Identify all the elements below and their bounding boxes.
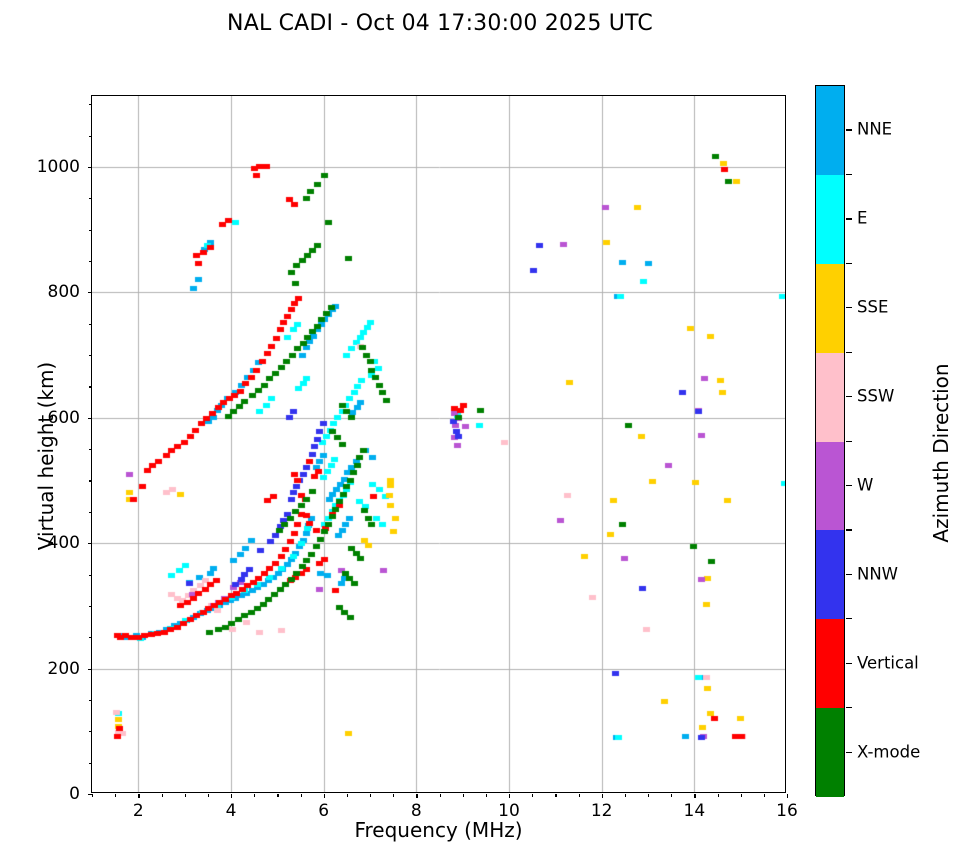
- y-tick-minor: [89, 136, 92, 137]
- colorbar-tick: [846, 307, 852, 308]
- y-axis-title: Virtual height (km): [34, 306, 58, 606]
- y-tick-minor: [89, 386, 92, 387]
- x-tick-minor: [347, 794, 348, 797]
- colorbar-boundary-tick: [846, 618, 852, 619]
- x-tick-minor: [92, 794, 93, 797]
- x-tick-minor: [185, 794, 186, 797]
- x-tick-minor: [718, 794, 719, 797]
- colorbar-segment-nne[interactable]: [816, 86, 844, 175]
- colorbar-label-x-mode: X-mode: [857, 742, 920, 761]
- x-tick-minor: [555, 794, 556, 797]
- y-tick: [88, 669, 92, 670]
- colorbar-tick: [846, 574, 852, 575]
- x-tick: [694, 794, 695, 798]
- colorbar-boundary-tick: [846, 529, 852, 530]
- colorbar-tick: [846, 129, 852, 130]
- x-tick-minor: [162, 794, 163, 797]
- colorbar-boundary-tick: [846, 263, 852, 264]
- y-tick-label: 0: [69, 784, 80, 804]
- x-tick-minor: [370, 794, 371, 797]
- y-tick-minor: [89, 261, 92, 262]
- x-tick-minor: [625, 794, 626, 797]
- colorbar-segment-ssw[interactable]: [816, 353, 844, 442]
- colorbar-label-nnw: NNW: [857, 564, 898, 583]
- x-tick-minor: [579, 794, 580, 797]
- y-tick-minor: [89, 198, 92, 199]
- x-tick: [138, 794, 139, 798]
- colorbar-boundary-tick: [846, 352, 852, 353]
- colorbar-label-vertical: Vertical: [857, 653, 919, 672]
- x-tick-minor: [208, 794, 209, 797]
- y-tick-minor: [89, 606, 92, 607]
- y-tick: [88, 543, 92, 544]
- y-tick: [88, 292, 92, 293]
- y-tick-minor: [89, 449, 92, 450]
- page-title: NAL CADI - Oct 04 17:30:00 2025 UTC: [0, 11, 880, 36]
- x-tick-minor: [532, 794, 533, 797]
- colorbar-segment-e[interactable]: [816, 175, 844, 264]
- y-tick-label: 200: [48, 659, 80, 679]
- colorbar-label-w: W: [857, 475, 873, 494]
- x-axis-title: Frequency (MHz): [91, 818, 786, 842]
- y-tick-minor: [89, 763, 92, 764]
- colorbar-segment-x-mode[interactable]: [816, 708, 844, 797]
- y-tick-label: 800: [48, 282, 80, 302]
- colorbar-tick: [846, 396, 852, 397]
- y-tick: [88, 167, 92, 168]
- colorbar-tick: [846, 485, 852, 486]
- y-tick-minor: [89, 104, 92, 105]
- y-tick: [88, 794, 92, 795]
- y-tick: [88, 418, 92, 419]
- x-tick: [324, 794, 325, 798]
- x-tick-minor: [254, 794, 255, 797]
- plot-area: 24681012141602004006008001000: [91, 95, 786, 793]
- y-tick-label: 1000: [37, 157, 80, 177]
- colorbar-label-sse: SSE: [857, 298, 888, 317]
- y-tick-minor: [89, 637, 92, 638]
- x-tick-minor: [301, 794, 302, 797]
- y-tick-minor: [89, 512, 92, 513]
- x-tick-minor: [671, 794, 672, 797]
- y-tick-minor: [89, 355, 92, 356]
- x-tick: [602, 794, 603, 798]
- colorbar-tick: [846, 218, 852, 219]
- colorbar-segment-vertical[interactable]: [816, 619, 844, 708]
- y-tick-minor: [89, 575, 92, 576]
- colorbar-boundary-tick: [846, 174, 852, 175]
- x-tick-minor: [440, 794, 441, 797]
- x-tick-minor: [741, 794, 742, 797]
- colorbar-label-nne: NNE: [857, 120, 892, 139]
- colorbar-segment-w[interactable]: [816, 442, 844, 531]
- colorbar-segment-nnw[interactable]: [816, 530, 844, 619]
- ionogram-figure: NAL CADI - Oct 04 17:30:00 2025 UTC 2468…: [0, 0, 958, 857]
- colorbar-label-ssw: SSW: [857, 387, 894, 406]
- colorbar[interactable]: [815, 85, 845, 796]
- y-tick-minor: [89, 731, 92, 732]
- colorbar-title: Azimuth Direction: [929, 303, 953, 603]
- x-tick-minor: [277, 794, 278, 797]
- x-tick: [231, 794, 232, 798]
- y-tick-minor: [89, 700, 92, 701]
- x-tick-minor: [463, 794, 464, 797]
- x-tick: [787, 794, 788, 798]
- x-tick-minor: [115, 794, 116, 797]
- colorbar-boundary-tick: [846, 707, 852, 708]
- colorbar-tick: [846, 752, 852, 753]
- colorbar-segment-sse[interactable]: [816, 264, 844, 353]
- x-tick: [416, 794, 417, 798]
- x-tick-minor: [393, 794, 394, 797]
- y-tick-minor: [89, 230, 92, 231]
- x-tick-minor: [648, 794, 649, 797]
- x-tick-minor: [764, 794, 765, 797]
- y-tick-minor: [89, 480, 92, 481]
- x-tick: [509, 794, 510, 798]
- data-canvas-wrapper: [92, 96, 785, 792]
- echo-scatter-canvas: [92, 96, 785, 792]
- y-tick-minor: [89, 324, 92, 325]
- x-tick-minor: [486, 794, 487, 797]
- colorbar-label-e: E: [857, 209, 867, 228]
- colorbar-boundary-tick: [846, 441, 852, 442]
- colorbar-tick: [846, 663, 852, 664]
